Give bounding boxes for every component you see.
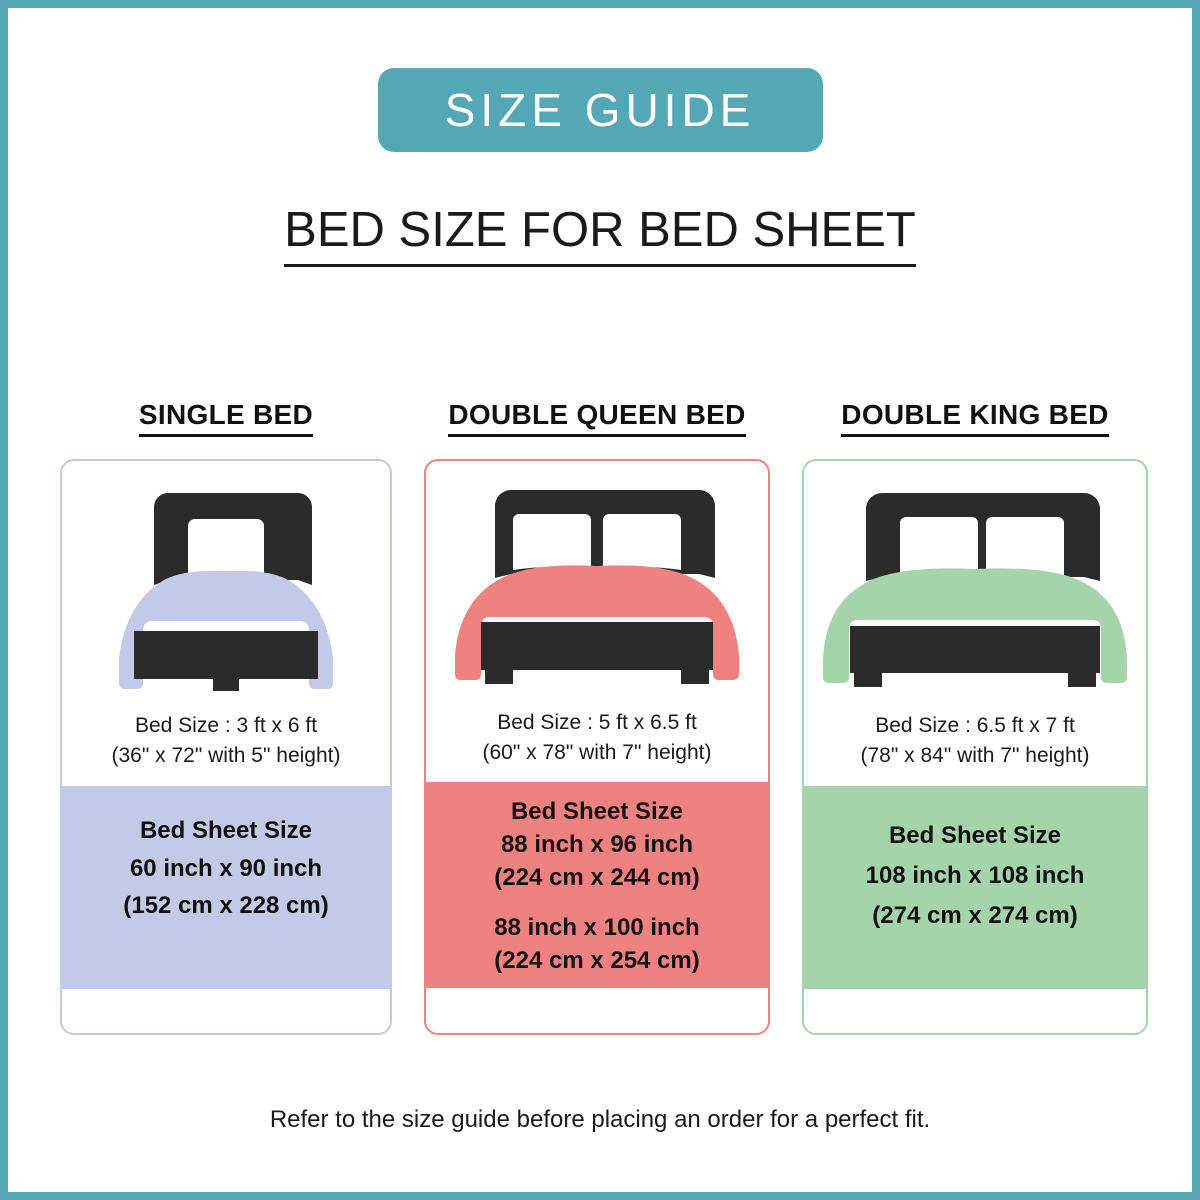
king-sheet-cm-1: (274 cm x 274 cm) [812, 896, 1138, 936]
page-title: BED SIZE FOR BED SHEET [284, 204, 916, 267]
queen-bed-size-line1: Bed Size : 5 ft x 6.5 ft [434, 708, 760, 738]
queen-bed-size-text: Bed Size : 5 ft x 6.5 ft (60" x 78" with… [426, 690, 768, 783]
queen-sheet-cm-2: (224 cm x 254 cm) [434, 945, 760, 978]
king-bed-size-line1: Bed Size : 6.5 ft x 7 ft [812, 711, 1138, 741]
card-double-king-bed: Bed Size : 6.5 ft x 7 ft (78" x 84" with… [802, 459, 1148, 1035]
single-bed-size-line2: (36" x 72" with 5" height) [70, 741, 382, 771]
single-sheet-size-1: 60 inch x 90 inch (152 cm x 228 cm) [70, 850, 382, 926]
column-heading-king: DOUBLE KING BED [841, 400, 1108, 437]
queen-sheet-size-1: 88 inch x 96 inch (224 cm x 244 cm) [434, 829, 760, 894]
single-bed-illustration [62, 461, 390, 693]
king-bed-illustration [804, 461, 1146, 693]
king-sheet-size-1: 108 inch x 108 inch (274 cm x 274 cm) [812, 856, 1138, 937]
queen-bed-illustration [426, 461, 768, 690]
card-single-bed: Bed Size : 3 ft x 6 ft (36" x 72" with 5… [60, 459, 392, 1035]
queen-sheet-size-2: 88 inch x 100 inch (224 cm x 254 cm) [434, 912, 760, 977]
queen-sheet-inch-1: 88 inch x 96 inch [434, 829, 760, 862]
single-sheet-cm-1: (152 cm x 228 cm) [70, 887, 382, 925]
banner-container: SIZE GUIDE [8, 68, 1192, 152]
single-sheet-title: Bed Sheet Size [70, 812, 382, 850]
column-double-king-bed: DOUBLE KING BED [802, 400, 1148, 1035]
card-double-queen-bed: Bed Size : 5 ft x 6.5 ft (60" x 78" with… [424, 459, 770, 1035]
king-sheet-inch-1: 108 inch x 108 inch [812, 856, 1138, 896]
queen-bed-size-line2: (60" x 78" with 7" height) [434, 738, 760, 768]
king-bed-size-text: Bed Size : 6.5 ft x 7 ft (78" x 84" with… [804, 693, 1146, 786]
queen-sheet-inch-2: 88 inch x 100 inch [434, 912, 760, 945]
single-bed-icon [96, 483, 356, 693]
double-king-bed-icon [820, 483, 1130, 693]
column-single-bed: SINGLE BED [60, 400, 392, 1035]
single-bed-size-text: Bed Size : 3 ft x 6 ft (36" x 72" with 5… [62, 693, 390, 786]
page-title-container: BED SIZE FOR BED SHEET [8, 204, 1192, 267]
column-heading-queen: DOUBLE QUEEN BED [448, 400, 745, 437]
queen-sheet-cm-1: (224 cm x 244 cm) [434, 862, 760, 895]
single-bed-size-line1: Bed Size : 3 ft x 6 ft [70, 711, 382, 741]
king-card-footer-strip [804, 989, 1146, 1033]
single-card-footer-strip [62, 989, 390, 1033]
double-queen-bed-icon [447, 480, 747, 690]
footer-note: Refer to the size guide before placing a… [8, 1106, 1192, 1134]
column-double-queen-bed: DOUBLE QUEEN BED [424, 400, 770, 1035]
queen-sheet-title: Bed Sheet Size [434, 796, 760, 829]
size-guide-banner: SIZE GUIDE [378, 68, 823, 152]
queen-sheet-band: Bed Sheet Size 88 inch x 96 inch (224 cm… [426, 782, 768, 987]
king-sheet-title: Bed Sheet Size [812, 816, 1138, 856]
queen-card-footer-strip [426, 988, 768, 1033]
king-bed-size-line2: (78" x 84" with 7" height) [812, 741, 1138, 771]
banner-label: SIZE GUIDE [445, 87, 756, 133]
king-sheet-band: Bed Sheet Size 108 inch x 108 inch (274 … [804, 786, 1146, 989]
bed-size-columns: SINGLE BED [60, 400, 1148, 1035]
column-heading-single: SINGLE BED [139, 400, 313, 437]
size-guide-page: SIZE GUIDE BED SIZE FOR BED SHEET SINGLE… [0, 0, 1200, 1200]
single-sheet-band: Bed Sheet Size 60 inch x 90 inch (152 cm… [62, 786, 390, 989]
single-sheet-inch-1: 60 inch x 90 inch [70, 850, 382, 888]
